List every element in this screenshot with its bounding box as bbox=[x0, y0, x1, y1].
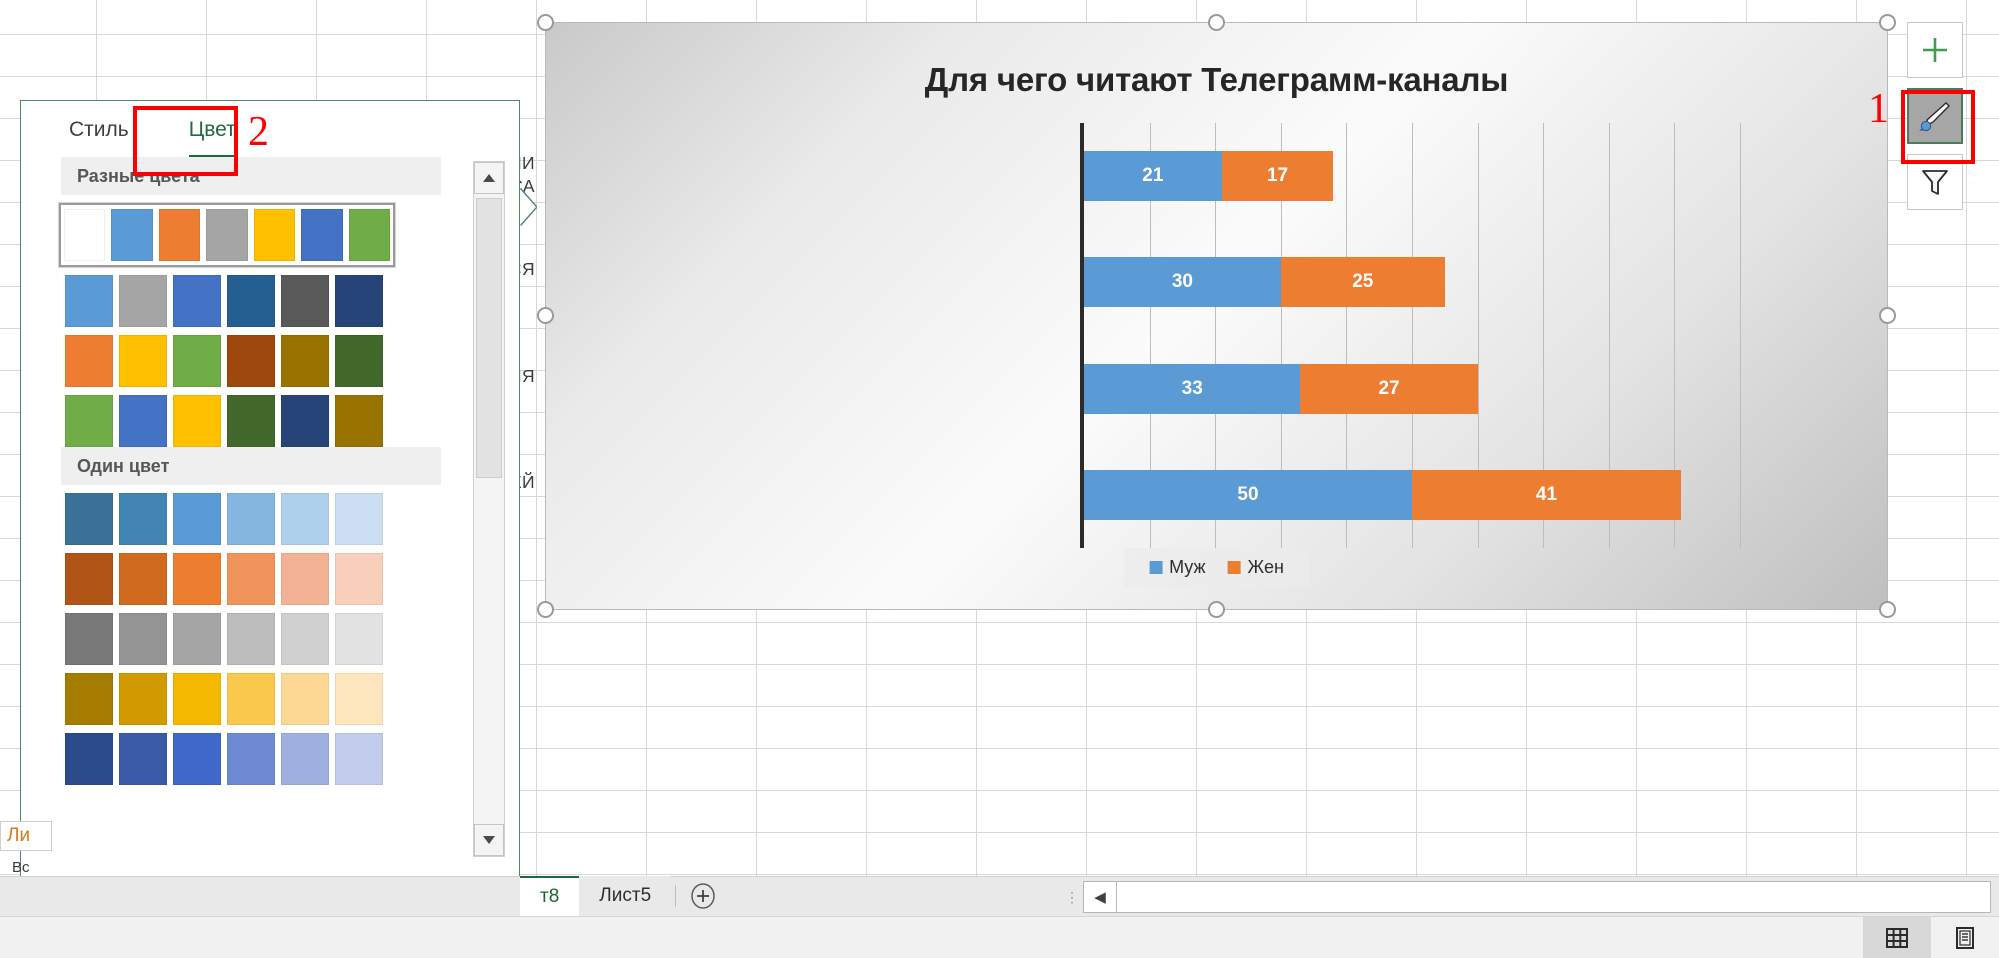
resize-handle-br[interactable] bbox=[1879, 601, 1896, 618]
color-swatch[interactable] bbox=[335, 335, 383, 387]
chevron-up-icon bbox=[481, 172, 497, 184]
color-swatch[interactable] bbox=[227, 613, 275, 665]
funnel-icon bbox=[1918, 165, 1952, 199]
color-swatch[interactable] bbox=[65, 613, 113, 665]
scroll-track[interactable] bbox=[1117, 881, 1991, 913]
color-swatch[interactable] bbox=[119, 613, 167, 665]
color-swatch[interactable] bbox=[119, 493, 167, 545]
color-swatch[interactable] bbox=[335, 673, 383, 725]
chart-bar-female[interactable]: 17 bbox=[1222, 151, 1334, 201]
color-swatch[interactable] bbox=[254, 209, 295, 261]
color-swatch[interactable] bbox=[159, 209, 200, 261]
color-swatch[interactable] bbox=[119, 553, 167, 605]
color-swatch[interactable] bbox=[281, 553, 329, 605]
color-row[interactable] bbox=[65, 613, 461, 665]
color-swatch[interactable] bbox=[335, 733, 383, 785]
color-row[interactable] bbox=[65, 673, 461, 725]
status-bar bbox=[0, 916, 1999, 958]
color-swatch[interactable] bbox=[65, 733, 113, 785]
color-swatch[interactable] bbox=[65, 673, 113, 725]
chart-bar-female[interactable]: 27 bbox=[1300, 364, 1477, 414]
color-swatch[interactable] bbox=[281, 395, 329, 447]
annotation-label-2: 2 bbox=[248, 108, 269, 156]
color-swatch[interactable] bbox=[65, 493, 113, 545]
chart-object[interactable]: Для чего читают Телеграмм-каналы ПОЛУЧИТ… bbox=[545, 22, 1888, 610]
annotation-label-1: 1 bbox=[1868, 85, 1889, 133]
horizontal-scrollbar[interactable]: ⋮ ◀ bbox=[1061, 880, 1991, 914]
chart-bar-value: 41 bbox=[1412, 484, 1681, 506]
resize-handle-tl[interactable] bbox=[537, 14, 554, 31]
color-swatch[interactable] bbox=[227, 673, 275, 725]
chart-styles-button[interactable] bbox=[1907, 88, 1963, 144]
chart-elements-button[interactable] bbox=[1907, 22, 1963, 78]
tab-color[interactable]: Цвет bbox=[185, 112, 240, 148]
color-swatch[interactable] bbox=[65, 553, 113, 605]
legend-label: Жен bbox=[1248, 557, 1284, 578]
color-swatch[interactable] bbox=[301, 209, 342, 261]
flyout-tabs: Стиль Цвет bbox=[21, 101, 519, 159]
color-swatch[interactable] bbox=[173, 553, 221, 605]
scroll-thumb[interactable] bbox=[476, 198, 502, 478]
chart-bar-male[interactable]: 21 bbox=[1084, 151, 1222, 201]
chart-bar-value: 30 bbox=[1084, 271, 1281, 293]
color-swatch[interactable] bbox=[173, 673, 221, 725]
color-swatch[interactable] bbox=[227, 493, 275, 545]
chart-bar-male[interactable]: 50 bbox=[1084, 470, 1412, 520]
color-row[interactable] bbox=[65, 335, 461, 387]
flyout-scrollbar[interactable] bbox=[473, 161, 505, 857]
chart-filters-button[interactable] bbox=[1907, 154, 1963, 210]
color-swatch[interactable] bbox=[335, 275, 383, 327]
color-swatch[interactable] bbox=[119, 395, 167, 447]
color-swatch[interactable] bbox=[281, 493, 329, 545]
color-swatch[interactable] bbox=[119, 275, 167, 327]
legend-item-f[interactable]: Жен bbox=[1228, 557, 1284, 578]
page-layout-view-button[interactable] bbox=[1931, 917, 1999, 958]
partial-status-text: Вс bbox=[0, 851, 60, 876]
legend-swatch-icon bbox=[1149, 561, 1162, 574]
color-swatch[interactable] bbox=[335, 613, 383, 665]
color-swatch[interactable] bbox=[65, 275, 113, 327]
color-swatch[interactable] bbox=[227, 395, 275, 447]
chart-bar-female[interactable]: 25 bbox=[1281, 257, 1445, 307]
add-sheet-button[interactable] bbox=[680, 876, 726, 916]
color-swatch[interactable] bbox=[119, 673, 167, 725]
color-swatch[interactable] bbox=[173, 493, 221, 545]
color-swatch[interactable] bbox=[281, 275, 329, 327]
legend-swatch-icon bbox=[1228, 561, 1241, 574]
color-swatch[interactable] bbox=[335, 553, 383, 605]
color-swatch[interactable] bbox=[227, 733, 275, 785]
color-swatch[interactable] bbox=[64, 209, 105, 261]
color-swatch[interactable] bbox=[111, 209, 152, 261]
chart-bar-value: 50 bbox=[1084, 484, 1412, 506]
chart-bar-value: 33 bbox=[1084, 378, 1300, 400]
color-row[interactable] bbox=[65, 553, 461, 605]
chart-bar-value: 21 bbox=[1084, 165, 1222, 187]
color-swatch[interactable] bbox=[281, 335, 329, 387]
color-swatch[interactable] bbox=[349, 209, 390, 261]
color-row[interactable] bbox=[65, 395, 461, 447]
swatch-section-header: Один цвет bbox=[61, 447, 441, 485]
chevron-down-icon bbox=[481, 834, 497, 846]
color-swatch[interactable] bbox=[281, 673, 329, 725]
page-icon bbox=[1952, 925, 1978, 951]
color-swatch[interactable] bbox=[119, 335, 167, 387]
chart-legend[interactable]: Муж Жен bbox=[1123, 548, 1310, 587]
color-swatch[interactable] bbox=[119, 733, 167, 785]
chart-bar-male[interactable]: 30 bbox=[1084, 257, 1281, 307]
sheet-tab-list5[interactable]: Лист5 bbox=[579, 876, 671, 916]
chart-bar-value: 17 bbox=[1222, 165, 1334, 187]
partial-sheet-tab[interactable]: Ли bbox=[0, 821, 52, 851]
grid-icon bbox=[1884, 925, 1910, 951]
swatch-section-header: Разные цвета bbox=[61, 157, 441, 195]
color-swatch[interactable] bbox=[227, 335, 275, 387]
scroll-down-button[interactable] bbox=[474, 824, 504, 856]
chart-title[interactable]: Для чего читают Телеграмм-каналы bbox=[546, 61, 1887, 99]
flyout-pointer-icon bbox=[520, 189, 536, 225]
color-swatch[interactable] bbox=[173, 733, 221, 785]
color-row[interactable] bbox=[65, 493, 461, 545]
color-row[interactable] bbox=[65, 275, 461, 327]
color-swatch[interactable] bbox=[173, 613, 221, 665]
color-swatch[interactable] bbox=[65, 395, 113, 447]
legend-item-m[interactable]: Муж bbox=[1149, 557, 1205, 578]
color-swatch[interactable] bbox=[173, 275, 221, 327]
tab-style[interactable]: Стиль bbox=[65, 112, 133, 148]
paintbrush-icon bbox=[1916, 97, 1954, 135]
chart-bar-value: 27 bbox=[1300, 378, 1477, 400]
gridline bbox=[1740, 123, 1741, 548]
color-swatch[interactable] bbox=[227, 275, 275, 327]
left-partial-fragments: Ли Вс bbox=[0, 821, 60, 876]
sheet-tab-active[interactable]: т8 bbox=[520, 876, 579, 916]
chart-bar-male[interactable]: 33 bbox=[1084, 364, 1300, 414]
plus-circle-icon bbox=[689, 882, 717, 910]
color-swatch[interactable] bbox=[65, 335, 113, 387]
plus-icon bbox=[1918, 33, 1952, 67]
color-swatch[interactable] bbox=[227, 553, 275, 605]
color-swatch[interactable] bbox=[173, 395, 221, 447]
color-swatch-list[interactable]: Разные цветаОдин цвет bbox=[21, 157, 461, 865]
scroll-up-button[interactable] bbox=[474, 162, 504, 194]
chart-bar-female[interactable]: 41 bbox=[1412, 470, 1681, 520]
color-swatch[interactable] bbox=[335, 395, 383, 447]
color-swatch[interactable] bbox=[206, 209, 247, 261]
color-row[interactable] bbox=[65, 733, 461, 785]
color-row-selected[interactable] bbox=[59, 203, 395, 267]
scroll-left-button[interactable]: ◀ bbox=[1083, 881, 1117, 913]
chart-side-buttons bbox=[1907, 22, 1969, 220]
resize-handle-bl[interactable] bbox=[537, 601, 554, 618]
chart-bar-value: 25 bbox=[1281, 271, 1445, 293]
chart-color-flyout[interactable]: Стиль Цвет Разные цветаОдин цвет Как изм… bbox=[20, 100, 520, 950]
color-swatch[interactable] bbox=[335, 493, 383, 545]
resize-handle-tr[interactable] bbox=[1879, 14, 1896, 31]
normal-view-button[interactable] bbox=[1863, 917, 1931, 958]
legend-label: Муж bbox=[1169, 557, 1205, 578]
color-swatch[interactable] bbox=[173, 335, 221, 387]
color-swatch[interactable] bbox=[281, 733, 329, 785]
color-swatch[interactable] bbox=[281, 613, 329, 665]
resize-handle-tc[interactable] bbox=[1208, 14, 1225, 31]
resize-handle-mr[interactable] bbox=[1879, 307, 1896, 324]
resize-handle-ml[interactable] bbox=[537, 307, 554, 324]
tab-separator bbox=[675, 885, 676, 907]
resize-handle-bc[interactable] bbox=[1208, 601, 1225, 618]
scroll-grip-icon[interactable]: ⋮ bbox=[1061, 893, 1083, 901]
